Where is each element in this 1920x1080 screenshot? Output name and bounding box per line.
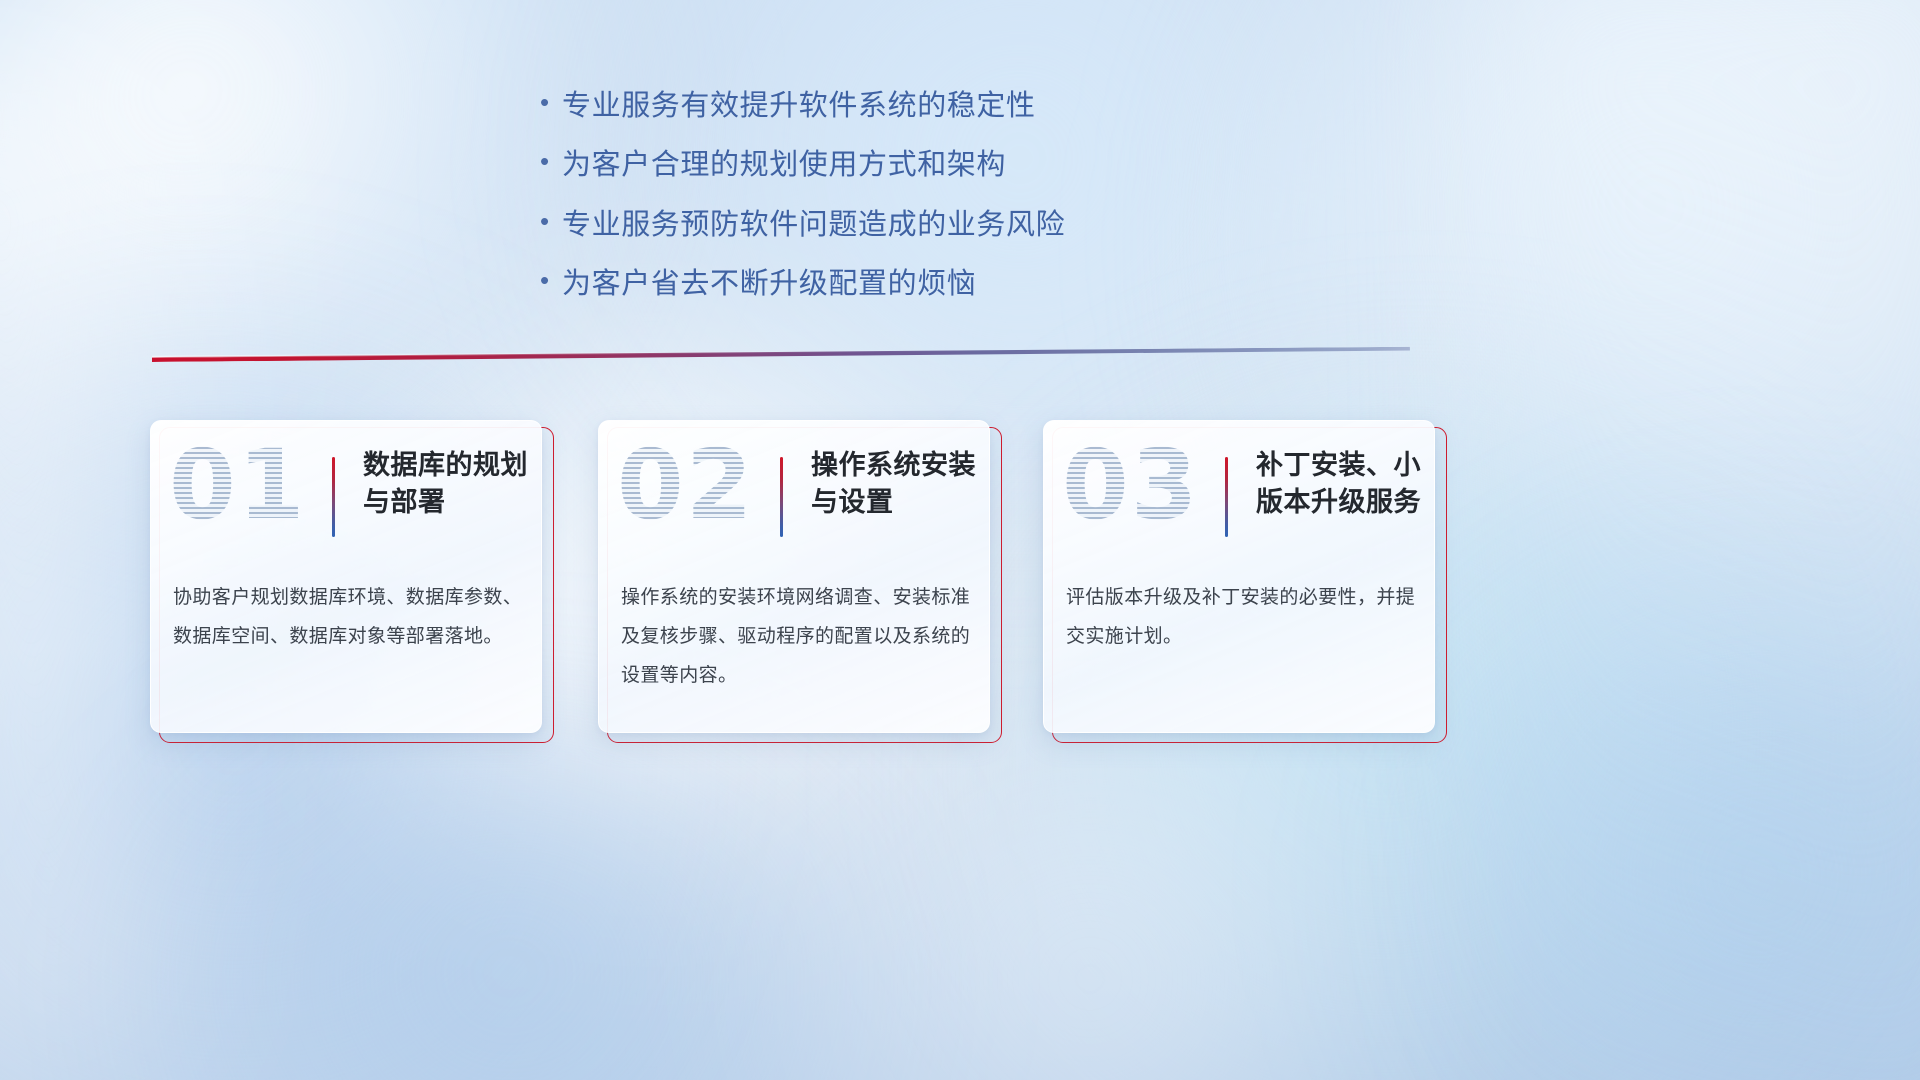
card-title: 数据库的规划与部署 [363, 447, 531, 522]
bullet-dot-icon: • [540, 208, 562, 234]
card-header: 01 01 数据库的规划与部署 [151, 421, 541, 569]
bullet-text: 专业服务有效提升软件系统的稳定性 [562, 88, 1036, 124]
card-number-watermark: 01 [169, 437, 307, 533]
card-vertical-divider [1225, 457, 1228, 537]
card-header: 02 02 操作系统安装与设置 [599, 421, 989, 569]
card-surface[interactable]: 02 02 操作系统安装与设置 操作系统的安装环境网络调查、安装标准及复核步骤、… [598, 420, 990, 733]
card-surface[interactable]: 03 03 补丁安装、小版本升级服务 评估版本升级及补丁安装的必要性，并提交实施… [1043, 420, 1435, 733]
card-body-text: 协助客户规划数据库环境、数据库参数、数据库空间、数据库对象等部署落地。 [173, 579, 525, 657]
bullet-dot-icon: • [540, 267, 562, 293]
service-card-03[interactable]: 03 03 补丁安装、小版本升级服务 评估版本升级及补丁安装的必要性，并提交实施… [1043, 420, 1447, 745]
list-item: • 为客户省去不断升级配置的烦恼 [540, 266, 1380, 302]
card-title: 补丁安装、小版本升级服务 [1256, 447, 1424, 522]
benefits-bullet-list: • 专业服务有效提升软件系统的稳定性 • 为客户合理的规划使用方式和架构 • 专… [540, 88, 1380, 325]
bullet-dot-icon: • [540, 148, 562, 174]
card-number-watermark: 02 [617, 437, 755, 533]
bullet-text: 专业服务预防软件问题造成的业务风险 [562, 207, 1065, 243]
list-item: • 专业服务有效提升软件系统的稳定性 [540, 88, 1380, 124]
service-card-01[interactable]: 01 01 数据库的规划与部署 协助客户规划数据库环境、数据库参数、数据库空间、… [150, 420, 554, 745]
bullet-dot-icon: • [540, 89, 562, 115]
list-item: • 专业服务预防软件问题造成的业务风险 [540, 207, 1380, 243]
card-vertical-divider [332, 457, 335, 537]
card-body-text: 操作系统的安装环境网络调查、安装标准及复核步骤、驱动程序的配置以及系统的设置等内… [621, 579, 973, 696]
bullet-text: 为客户合理的规划使用方式和架构 [562, 147, 1006, 183]
card-title: 操作系统安装与设置 [811, 447, 979, 522]
list-item: • 为客户合理的规划使用方式和架构 [540, 147, 1380, 183]
section-divider [152, 350, 1410, 372]
bullet-text: 为客户省去不断升级配置的烦恼 [562, 266, 976, 302]
card-header: 03 03 补丁安装、小版本升级服务 [1044, 421, 1434, 569]
service-card-group: 01 01 数据库的规划与部署 协助客户规划数据库环境、数据库参数、数据库空间、… [150, 420, 1470, 750]
card-surface[interactable]: 01 01 数据库的规划与部署 协助客户规划数据库环境、数据库参数、数据库空间、… [150, 420, 542, 733]
card-number-watermark: 03 [1062, 437, 1200, 533]
card-body-text: 评估版本升级及补丁安装的必要性，并提交实施计划。 [1066, 579, 1418, 657]
service-card-02[interactable]: 02 02 操作系统安装与设置 操作系统的安装环境网络调查、安装标准及复核步骤、… [598, 420, 1002, 745]
card-vertical-divider [780, 457, 783, 537]
